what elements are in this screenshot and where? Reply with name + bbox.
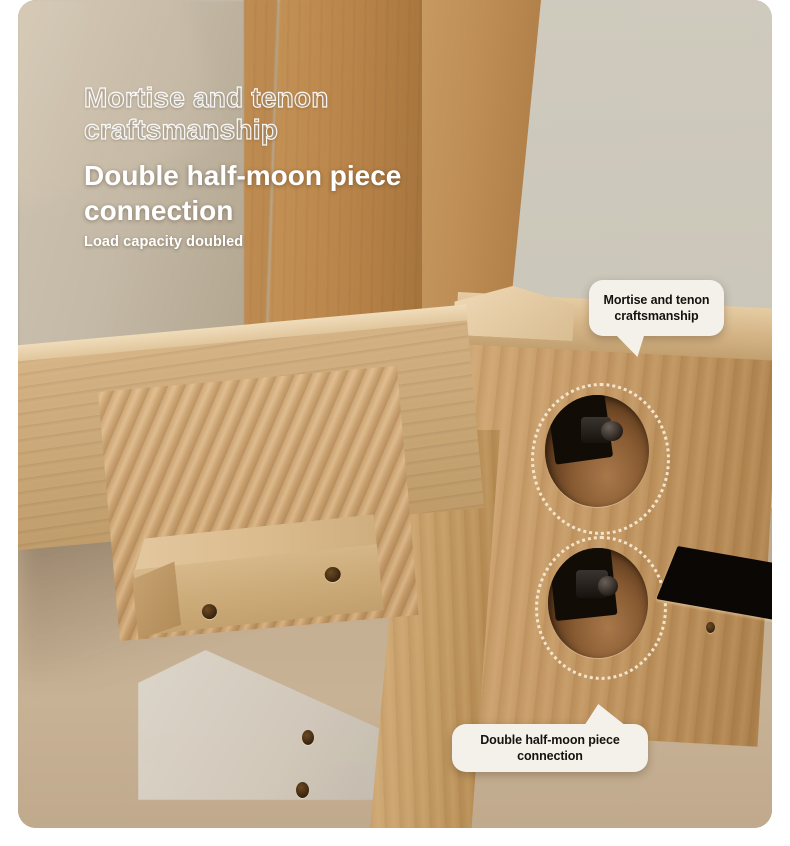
eyebrow-text: Mortise and tenon craftsmanship [84, 82, 424, 145]
apron-dowel-hole [706, 622, 715, 633]
sub-caption: Load capacity doubled [84, 234, 243, 250]
leg-dowel-hole-lower [296, 782, 309, 798]
leg-dowel-hole-upper [302, 730, 314, 745]
dotted-ellipse-lower [535, 536, 667, 680]
dotted-ellipse-upper [531, 383, 670, 535]
callout-half-moon-label: Double half-moon piece connection [452, 732, 648, 765]
product-photo: Mortise and tenon craftsmanship Double h… [18, 0, 772, 828]
callout-mortise-tenon-label: Mortise and tenon craftsmanship [589, 292, 724, 325]
callout-mortise-tenon: Mortise and tenon craftsmanship [589, 280, 724, 336]
callout-half-moon: Double half-moon piece connection [452, 724, 648, 772]
page-title: Double half-moon piece connection [84, 158, 444, 228]
